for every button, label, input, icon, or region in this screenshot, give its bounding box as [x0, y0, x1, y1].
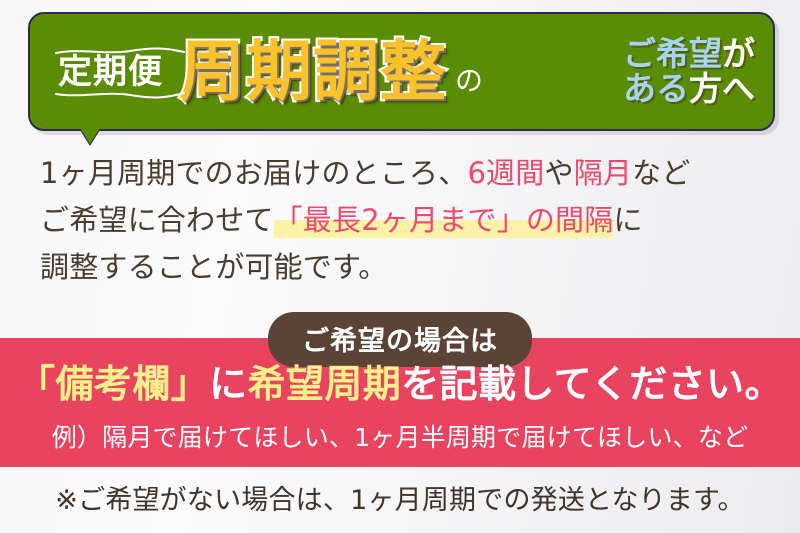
wish-line-2: ある方へ — [623, 72, 755, 107]
body-highlight-max-interval: 「最長2ヶ月まで」の間隔 — [274, 203, 614, 238]
wish-line-1-emphasis: ご希望 — [623, 34, 722, 73]
body-line-1: 1ヶ月周期でのお届けのところ、6週間や隔月など — [40, 150, 770, 197]
body-line-2-segment-1: ご希望に合わせて — [40, 203, 274, 237]
instruction-field-name: 「備考欄」 — [17, 362, 209, 406]
header-callout-box: 定期便 周期調整 の ご希望が ある方へ — [28, 12, 775, 131]
body-line-1-segment-1: 1ヶ月周期でのお届けのところ、 — [40, 156, 467, 190]
body-line-1-segment-3: など — [632, 156, 690, 190]
title-particle: の — [455, 59, 483, 99]
instruction-desired-cycle: 希望周期 — [248, 362, 402, 406]
body-paragraph: 1ヶ月周期でのお届けのところ、6週間や隔月など ご希望に合わせて「最長2ヶ月まで… — [40, 150, 770, 291]
wave-rule-top-icon — [54, 47, 186, 56]
wish-line-1: ご希望が — [623, 37, 755, 72]
body-accent-every-other-month: 隔月 — [574, 156, 632, 190]
footer-note: ※ご希望がない場合は、1ヶ月周期での発送となります。 — [0, 478, 800, 517]
instruction-example: 例）隔月で届けてほしい、1ヶ月半周期で届けてほしい、など — [0, 423, 800, 453]
body-accent-six-weeks: 6週間 — [467, 156, 544, 190]
subscription-tag: 定期便 — [52, 41, 169, 103]
instruction-headline: 「備考欄」に希望周期を記載してください。 — [0, 362, 800, 408]
body-line-2: ご希望に合わせて「最長2ヶ月まで」の間隔に — [40, 197, 770, 244]
wish-line-2-tail: 方へ — [689, 69, 755, 108]
subscription-tag-label: 定期便 — [58, 55, 163, 89]
body-line-2-segment-2: に — [613, 203, 642, 237]
wish-line-1-tail: が — [722, 34, 755, 73]
promo-banner: 定期便 周期調整 の ご希望が ある方へ 1ヶ月周期 — [0, 0, 800, 533]
callout-tail-icon — [80, 128, 100, 144]
wish-line-2-emphasis: ある — [623, 69, 689, 108]
body-line-3: 調整することが可能です。 — [40, 244, 770, 291]
wave-rule-bottom-icon — [54, 90, 186, 99]
instruction-connector-2: を記載してください。 — [401, 362, 783, 406]
header-content: 定期便 周期調整 の ご希望が ある方へ — [30, 14, 773, 129]
wish-audience-text: ご希望が ある方へ — [623, 37, 755, 107]
instruction-connector-1: に — [209, 362, 247, 406]
body-line-1-segment-2: や — [545, 156, 574, 190]
status-badge: ご希望の場合は — [268, 312, 532, 367]
page-title: 周期調整 — [179, 39, 447, 105]
